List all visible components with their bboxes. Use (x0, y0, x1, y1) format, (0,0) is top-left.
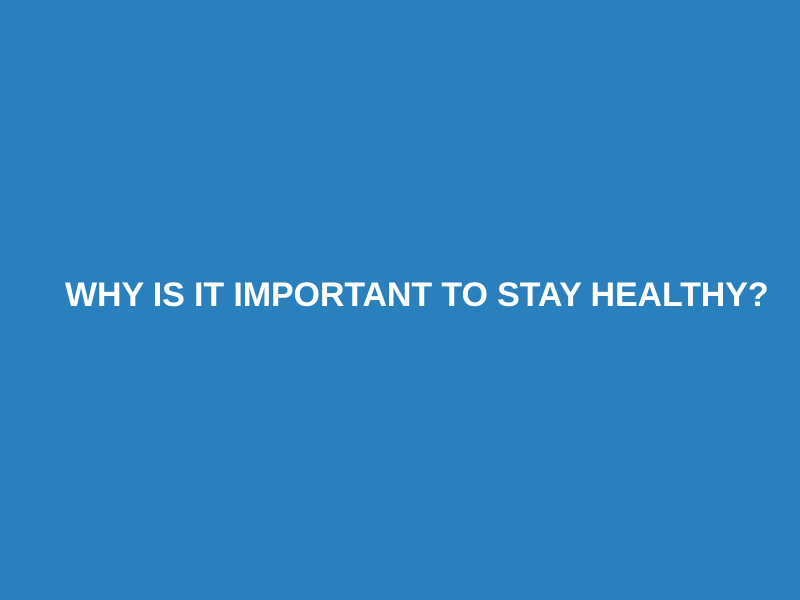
banner-content-area: WHY IS IT IMPORTANT TO STAY HEALTHY? (0, 0, 800, 600)
page-title: WHY IS IT IMPORTANT TO STAY HEALTHY? (65, 275, 765, 315)
article-header-banner: WHY IS IT IMPORTANT TO STAY HEALTHY? (0, 0, 800, 600)
